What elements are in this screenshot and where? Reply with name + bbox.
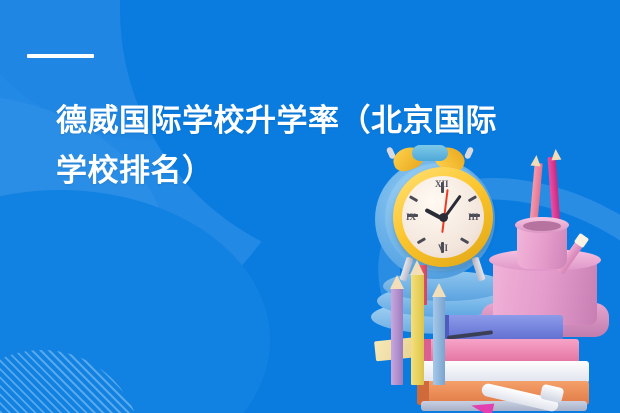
clock-tick-2 [468,195,477,202]
cup-pencil-salmon-tip [531,155,542,167]
clock-numeral-6: VI [438,243,448,253]
cup-pencil-magenta-icon [548,157,561,225]
colored-pencil-yellow-icon [411,273,424,385]
clock-center-cap [439,213,448,222]
cup-pencil-magenta-tip [551,149,562,161]
accent-divider-line [27,54,94,58]
clock-numeral-3: III [468,212,479,222]
colored-pencil-purple-tip [390,275,404,289]
colored-pencil-yellow-tip [410,260,424,275]
book-grey [421,401,587,411]
school-supplies-illustration: XII III VI IX [355,145,620,413]
article-cover-banner: 德威国际学校升学率（北京国际 学校排名） XII III V [0,0,620,413]
colored-pencil-blue-tip [432,283,446,297]
page-title-line-1: 德威国际学校升学率（北京国际 [56,96,576,146]
clock-top-button-icon [412,145,448,161]
clock-tick-4 [460,237,469,244]
cup-pencil-salmon-icon [529,163,542,225]
colored-pencil-blue-icon [433,295,445,385]
clock-tick-8 [417,237,426,244]
clock-tick-10 [409,195,418,202]
colored-pencil-purple-icon [391,287,403,385]
pencil-cup-opening [523,221,561,231]
clock-numeral-9: IX [406,212,416,222]
clock-numeral-12: XII [435,179,449,189]
clock-knob-right-icon [464,146,475,159]
